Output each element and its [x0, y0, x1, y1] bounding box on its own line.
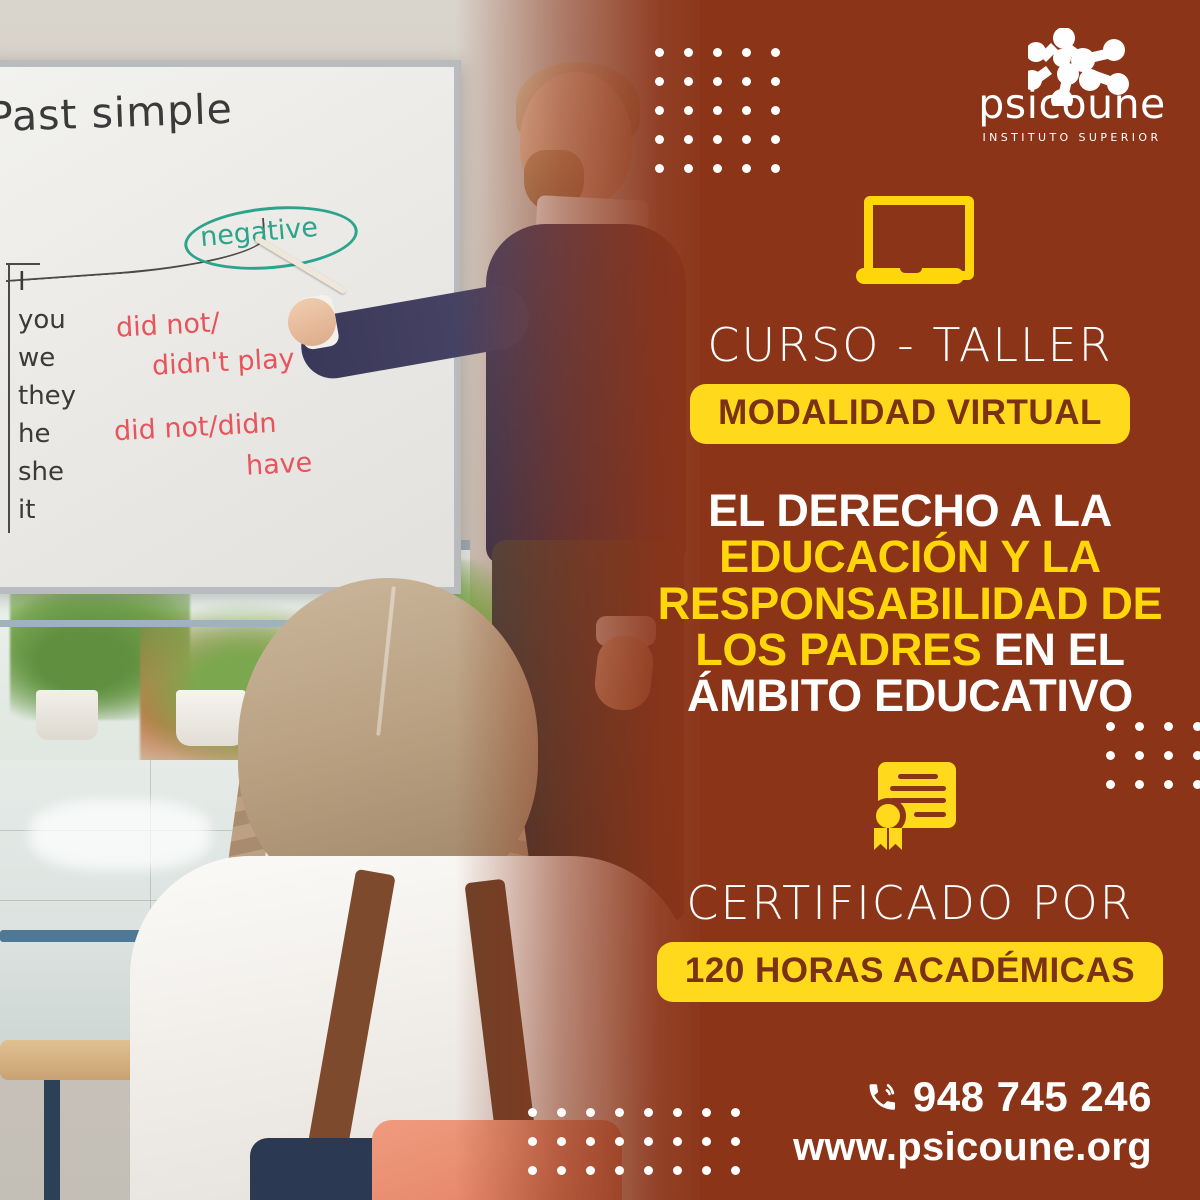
website[interactable]: www.psicoune.org	[793, 1125, 1152, 1170]
promotional-poster: Past simple negative I you we they he sh…	[0, 0, 1200, 1200]
modality-badge: MODALIDAD VIRTUAL	[690, 384, 1130, 444]
certificate-ribbon	[874, 828, 887, 850]
course-kicker: CURSO - TALLER	[640, 318, 1180, 372]
decor-dot	[586, 1137, 595, 1146]
hours-badge: 120 HORAS ACADÉMICAS	[657, 942, 1163, 1002]
decor-dot	[528, 1108, 537, 1117]
certificate-line	[914, 812, 946, 817]
certificate-line	[898, 774, 938, 779]
course-block: CURSO - TALLER MODALIDAD VIRTUAL	[640, 196, 1180, 444]
phone-row[interactable]: 948 745 246	[793, 1073, 1152, 1121]
laptop-icon	[856, 196, 964, 284]
decor-dot	[615, 1108, 624, 1117]
contact-block: 948 745 246 www.psicoune.org	[793, 1073, 1152, 1170]
content-column: CURSO - TALLER MODALIDAD VIRTUAL EL DERE…	[640, 0, 1180, 1200]
phone-icon	[865, 1080, 899, 1114]
certificate-line	[890, 786, 946, 791]
headline-line-4: LOS PADRES EN EL	[630, 627, 1190, 673]
decor-dot	[528, 1166, 537, 1175]
decor-dot	[1193, 751, 1200, 760]
headline-line-4-white: EN EL	[994, 624, 1125, 675]
decor-dot	[586, 1166, 595, 1175]
headline-line-4-yellow: LOS PADRES	[695, 624, 993, 675]
decor-dot	[615, 1166, 624, 1175]
decor-dot	[528, 1137, 537, 1146]
decor-dot	[1193, 722, 1200, 731]
headline: EL DERECHO A LA EDUCACIÓN Y LA RESPONSAB…	[630, 488, 1190, 720]
headline-line-3: RESPONSABILIDAD DE	[630, 581, 1190, 627]
phone-number: 948 745 246	[913, 1073, 1152, 1121]
headline-line-1: EL DERECHO A LA	[630, 488, 1190, 534]
headline-line-5: ÁMBITO EDUCATIVO	[630, 673, 1190, 719]
certification-block: CERTIFICADO POR 120 HORAS ACADÉMICAS	[640, 758, 1180, 1002]
decor-dot	[615, 1137, 624, 1146]
decor-dot	[557, 1166, 566, 1175]
laptop-notch	[900, 266, 922, 273]
certification-label: CERTIFICADO POR	[640, 876, 1180, 930]
headline-line-2: EDUCACIÓN Y LA	[630, 534, 1190, 580]
certificate-icon	[864, 758, 956, 848]
decor-dot	[557, 1137, 566, 1146]
decor-dot	[1193, 780, 1200, 789]
certificate-ribbon	[889, 828, 902, 850]
decor-dot	[586, 1108, 595, 1117]
decor-dot	[557, 1108, 566, 1117]
